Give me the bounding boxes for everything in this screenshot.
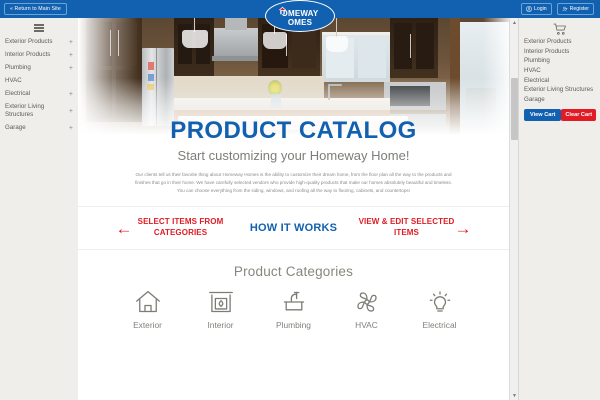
hamburger-icon[interactable]	[0, 20, 78, 36]
house-icon	[278, 6, 287, 15]
expand-icon[interactable]: +	[69, 125, 73, 132]
register-label: Register	[570, 6, 589, 12]
category-card-exterior[interactable]: Exterior	[117, 289, 179, 330]
expand-icon[interactable]: +	[69, 39, 73, 46]
house-icon	[134, 289, 162, 315]
cart-actions: View Cart Clear Cart	[519, 104, 600, 121]
category-label: HVAC	[355, 320, 378, 330]
main-content: PRODUCT CATALOG Start customizing your H…	[78, 18, 509, 400]
category-card-interior[interactable]: Interior	[190, 289, 252, 330]
left-arrow-icon[interactable]: ←	[116, 220, 133, 237]
cart-category-electrical[interactable]: Electrical	[519, 75, 600, 85]
return-to-main-site-button[interactable]: « Return to Main Site	[4, 3, 67, 15]
select-items-from-categories-label[interactable]: SELECT ITEMS FROM CATEGORIES	[133, 217, 229, 239]
return-to-main-site-label: « Return to Main Site	[10, 6, 61, 12]
logo-oval: OMEWAY OMES	[265, 0, 335, 32]
right-arrow-icon[interactable]: →	[455, 220, 472, 237]
sidebar-item-hvac[interactable]: HVAC	[0, 75, 78, 88]
product-categories-row: Exterior Interior	[78, 289, 509, 330]
sidebar-item-label: Plumbing	[5, 62, 31, 74]
cart-category-plumbing[interactable]: Plumbing	[519, 56, 600, 66]
user-add-icon	[562, 6, 568, 12]
top-bar-actions: Login Register	[521, 3, 594, 15]
sidebar-item-interior-products[interactable]: Interior Products +	[0, 49, 78, 62]
category-card-plumbing[interactable]: Plumbing	[263, 289, 325, 330]
headline-block: PRODUCT CATALOG Start customizing your H…	[78, 118, 509, 195]
right-sidebar-nav: Exterior Products Interior Products Plum…	[519, 37, 600, 104]
page-subtitle: Start customizing your Homeway Home!	[100, 148, 487, 164]
product-categories-heading: Product Categories	[78, 264, 509, 279]
sidebar-item-label: Exterior Living Structures	[5, 101, 65, 122]
scrollbar-thumb[interactable]	[511, 78, 518, 140]
sidebar-item-label: Interior Products	[5, 49, 50, 61]
expand-icon[interactable]: +	[69, 65, 73, 72]
login-label: Login	[534, 6, 547, 12]
sidebar-item-label: Exterior Products	[5, 36, 52, 48]
sidebar-item-exterior-living-structures[interactable]: Exterior Living Structures +	[0, 101, 78, 122]
category-label: Electrical	[423, 320, 457, 330]
faucet-sink-icon	[280, 289, 308, 315]
cart-icon-wrap[interactable]	[519, 20, 600, 37]
scroll-up-arrow-icon[interactable]: ▲	[510, 18, 519, 27]
sidebar-item-label: HVAC	[5, 75, 22, 87]
vertical-scrollbar[interactable]: ▲ ▼	[509, 18, 518, 400]
sidebar-item-exterior-products[interactable]: Exterior Products +	[0, 36, 78, 49]
expand-icon[interactable]: +	[69, 52, 73, 59]
cart-category-garage[interactable]: Garage	[519, 95, 600, 105]
sidebar-item-plumbing[interactable]: Plumbing +	[0, 62, 78, 75]
shopping-cart-icon	[553, 23, 567, 35]
logo-line-1: OMEWAY	[282, 10, 319, 18]
scroll-down-arrow-icon[interactable]: ▼	[510, 391, 519, 400]
sidebar-item-label: Electrical	[5, 88, 30, 100]
user-icon	[526, 6, 532, 12]
sidebar-item-electrical[interactable]: Electrical +	[0, 88, 78, 101]
intro-paragraph: Our clients tell us their favorite thing…	[134, 171, 454, 195]
category-label: Interior	[207, 320, 233, 330]
left-sidebar-nav: Exterior Products + Interior Products + …	[0, 36, 78, 135]
view-cart-button[interactable]: View Cart	[524, 109, 561, 121]
right-sidebar: Exterior Products Interior Products Plum…	[518, 18, 600, 400]
left-sidebar: Exterior Products + Interior Products + …	[0, 18, 78, 400]
expand-icon[interactable]: +	[69, 108, 73, 115]
cart-category-interior-products[interactable]: Interior Products	[519, 47, 600, 57]
expand-icon[interactable]: +	[69, 91, 73, 98]
cart-category-exterior-products[interactable]: Exterior Products	[519, 37, 600, 47]
how-it-works-strip: ← SELECT ITEMS FROM CATEGORIES HOW IT WO…	[78, 206, 509, 250]
sidebar-item-label: Garage	[5, 122, 26, 134]
register-button[interactable]: Register	[557, 3, 594, 15]
page-root: « Return to Main Site Login Register	[0, 0, 600, 400]
category-label: Exterior	[133, 320, 162, 330]
clear-cart-button[interactable]: Clear Cart	[561, 109, 596, 121]
fireplace-icon	[207, 289, 235, 315]
logo-line-2: OMES	[288, 19, 312, 27]
site-logo[interactable]: OMEWAY OMES	[265, 0, 335, 32]
view-edit-selected-items-label[interactable]: VIEW & EDIT SELECTED ITEMS	[359, 217, 455, 239]
fan-icon	[353, 289, 381, 315]
sidebar-item-garage[interactable]: Garage +	[0, 122, 78, 135]
category-card-hvac[interactable]: HVAC	[336, 289, 398, 330]
cart-category-exterior-living-structures[interactable]: Exterior Living Structures	[519, 85, 600, 95]
page-title: PRODUCT CATALOG	[100, 118, 487, 144]
cart-category-hvac[interactable]: HVAC	[519, 66, 600, 76]
how-it-works-title: HOW IT WORKS	[229, 222, 359, 234]
lightbulb-icon	[426, 289, 454, 315]
login-button[interactable]: Login	[521, 3, 552, 15]
category-card-electrical[interactable]: Electrical	[409, 289, 471, 330]
category-label: Plumbing	[276, 320, 311, 330]
